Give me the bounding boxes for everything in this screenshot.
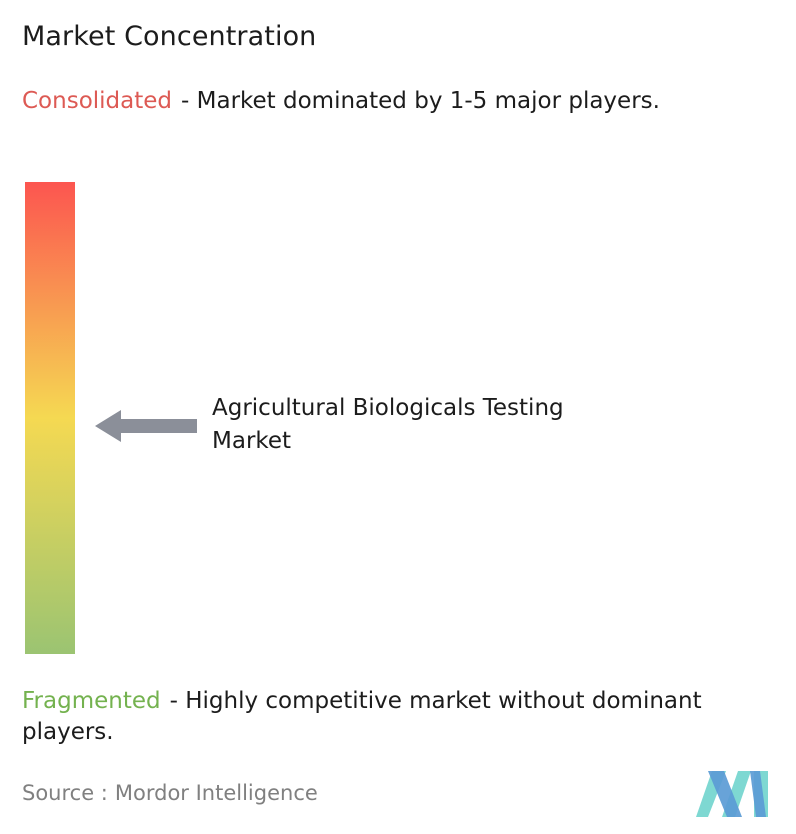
page-title: Market Concentration: [22, 20, 316, 54]
legend-fragmented: Fragmented- Highly competitive market wi…: [22, 686, 794, 748]
market-callout-label: Agricultural Biologicals Testing Market: [212, 392, 572, 458]
concentration-gradient-scale: [25, 182, 75, 654]
legend-consolidated-description: - Market dominated by 1-5 major players.: [181, 88, 660, 114]
mordor-intelligence-logo: [694, 769, 772, 819]
legend-fragmented-keyword: Fragmented: [22, 688, 161, 714]
legend-consolidated: Consolidated- Market dominated by 1-5 ma…: [22, 86, 778, 117]
legend-consolidated-keyword: Consolidated: [22, 88, 172, 114]
source-value: Mordor Intelligence: [115, 781, 318, 805]
source-attribution: Source :Mordor Intelligence: [22, 779, 318, 807]
market-concentration-infographic: Market Concentration Consolidated- Marke…: [0, 0, 796, 834]
source-label: Source :: [22, 781, 108, 805]
market-callout: Agricultural Biologicals Testing Market: [95, 392, 565, 472]
arrow-left-icon: [95, 408, 197, 444]
